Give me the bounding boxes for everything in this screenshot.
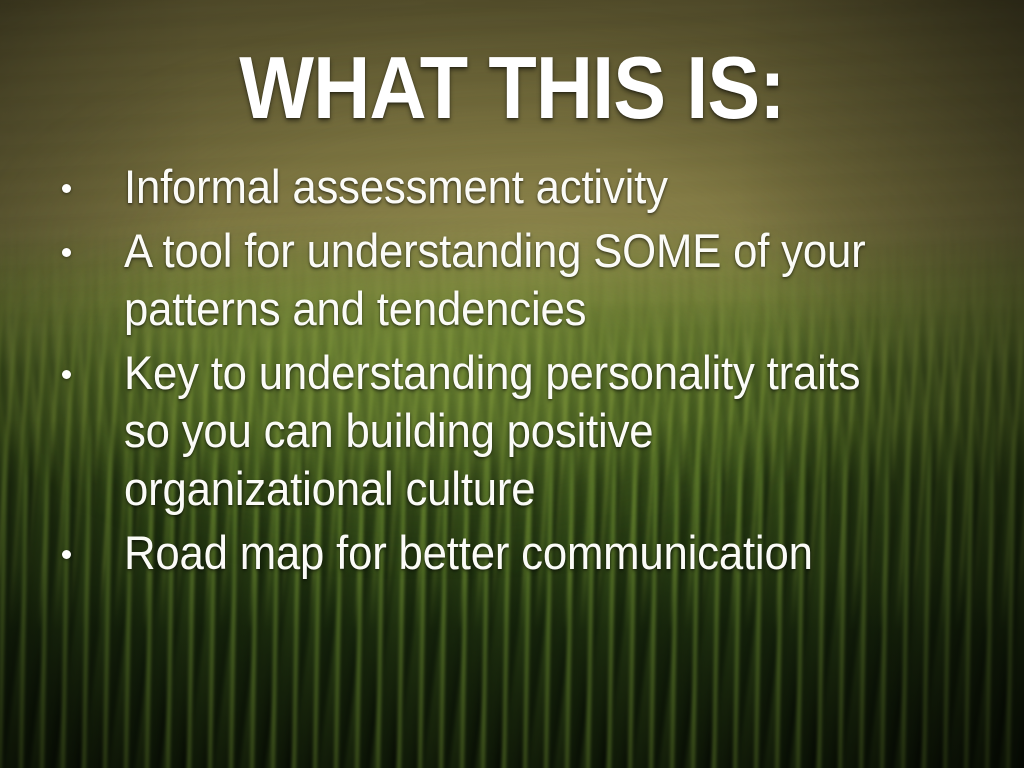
bullet-item-label: Informal assessment activity xyxy=(124,158,894,216)
bullet-dot-icon xyxy=(62,370,71,379)
slide-title: WHAT THIS IS: xyxy=(51,44,973,132)
bullet-dot-icon xyxy=(62,550,71,559)
presentation-slide: WHAT THIS IS: Informal assessment activi… xyxy=(0,0,1024,768)
bullet-item-label: A tool for understanding SOME of your pa… xyxy=(124,222,894,338)
slide-content: WHAT THIS IS: Informal assessment activi… xyxy=(0,0,1024,768)
list-item: Road map for better communication xyxy=(52,524,952,582)
bullet-item-label: Road map for better communication xyxy=(124,524,894,582)
bullet-list: Informal assessment activity A tool for … xyxy=(52,158,952,588)
bullet-dot-icon xyxy=(62,248,71,257)
bullet-dot-icon xyxy=(62,184,71,193)
bullet-item-label: Key to understanding personality traits … xyxy=(124,344,894,518)
list-item: Informal assessment activity xyxy=(52,158,952,216)
list-item: Key to understanding personality traits … xyxy=(52,344,952,518)
list-item: A tool for understanding SOME of your pa… xyxy=(52,222,952,338)
